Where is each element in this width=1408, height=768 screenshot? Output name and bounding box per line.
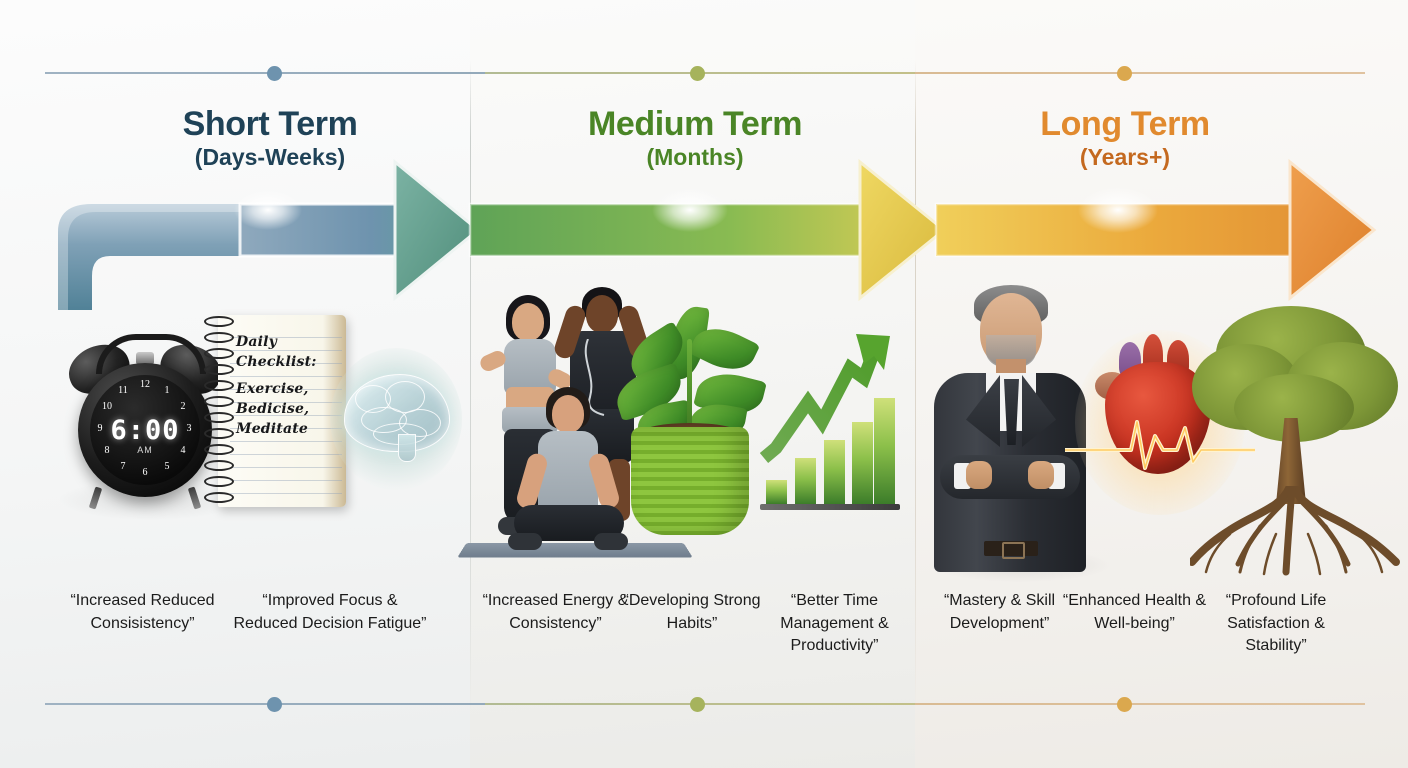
potted-plant-illustration	[615, 300, 765, 535]
plant-pot	[631, 427, 749, 535]
growth-bar-4	[852, 422, 873, 504]
timeline-rail-bottom	[45, 703, 1365, 705]
rail-segment-long-bottom	[915, 703, 1365, 705]
daily-checklist-notepad: Daily Checklist: Exercise, Bedicise, Med…	[218, 315, 346, 507]
infographic-canvas: Short Term (Days-Weeks) Medium Term (Mon…	[0, 0, 1408, 768]
timeline-marker-medium-bottom	[690, 697, 705, 712]
stage-subtitle-medium-term: (Months)	[545, 145, 845, 171]
brain-icon	[330, 348, 462, 490]
growth-bar-1	[766, 480, 787, 504]
growth-bar-2	[795, 458, 816, 504]
clock-digital-time: 6:00	[90, 415, 200, 446]
clock-numeral-6: 6	[138, 467, 152, 478]
businessman-hand-right	[1028, 461, 1054, 489]
stage-heading-long-term: Long Term (Years+)	[975, 105, 1275, 171]
growth-chart-baseline	[760, 504, 900, 510]
growth-bar-chart	[760, 330, 900, 510]
clock-numeral-7: 7	[116, 461, 130, 472]
tree-with-roots-illustration	[1190, 300, 1400, 575]
caption-long-term-1: “Mastery & Skill Development”	[922, 590, 1077, 635]
stage-subtitle-long-term: (Years+)	[975, 145, 1275, 171]
timeline-marker-medium-top	[690, 66, 705, 81]
caption-short-term-2: “Improved Focus & Reduced Decision Fatig…	[232, 590, 428, 635]
rail-segment-short-top	[45, 72, 485, 74]
stage-subtitle-short-term: (Days-Weeks)	[120, 145, 420, 171]
growth-bar-5	[874, 398, 895, 504]
column-divider-2	[915, 60, 916, 710]
meditator-shoe-right	[594, 533, 628, 550]
businessman-belt-buckle	[1002, 542, 1025, 559]
clock-numeral-1: 1	[160, 385, 174, 396]
businessman-hand-left	[966, 461, 992, 489]
caption-long-term-3: “Profound Life Satisfaction & Stability”	[1196, 590, 1356, 658]
plant-stem	[687, 339, 692, 435]
clock-numeral-11: 11	[116, 385, 130, 396]
tree-root-system	[1190, 486, 1400, 578]
meditator-tank-top	[538, 431, 598, 515]
timeline-marker-short-bottom	[267, 697, 282, 712]
alarm-clock-icon: 12 1 2 3 4 5 6 7 8 9 10 11 6:00 AM	[70, 330, 220, 495]
caption-long-term-2: “Enhanced Health & Well-being”	[1062, 590, 1207, 635]
notepad-line-2: Exercise, Bedicise, Meditate	[236, 380, 340, 440]
notepad-line-1: Daily Checklist:	[236, 333, 340, 373]
notepad-handwriting: Daily Checklist: Exercise, Bedicise, Med…	[236, 333, 340, 439]
brain-stem	[398, 434, 416, 462]
yoga-mat	[457, 543, 693, 558]
clock-numeral-5: 5	[160, 461, 174, 472]
clock-meridiem: AM	[90, 445, 200, 455]
caption-medium-term-1: “Increased Energy & Consistency”	[478, 590, 633, 635]
caption-medium-term-2: “Developing Strong Habits”	[612, 590, 772, 635]
rail-segment-long-top	[915, 72, 1365, 74]
meditator-shoe-left	[508, 533, 542, 550]
growth-bar-3	[824, 440, 845, 504]
meditator-head	[552, 395, 584, 433]
stretcher-head	[586, 295, 618, 333]
timeline-rail-top	[45, 72, 1365, 74]
caption-short-term-1: “Increased Reduced Consisistency”	[60, 590, 225, 635]
rail-segment-short-bottom	[45, 703, 485, 705]
stage-title-short-term: Short Term	[120, 105, 420, 143]
notepad-spiral-binding	[204, 312, 230, 510]
runner-head	[512, 303, 544, 341]
timeline-marker-long-top	[1117, 66, 1132, 81]
stage-heading-medium-term: Medium Term (Months)	[545, 105, 845, 171]
brain-body	[344, 374, 450, 452]
timeline-marker-long-bottom	[1117, 697, 1132, 712]
clock-numeral-2: 2	[176, 401, 190, 412]
clock-numeral-12: 12	[138, 379, 152, 390]
clock-body: 12 1 2 3 4 5 6 7 8 9 10 11 6:00 AM	[78, 363, 212, 497]
timeline-marker-short-top	[267, 66, 282, 81]
clock-face: 12 1 2 3 4 5 6 7 8 9 10 11 6:00 AM	[90, 375, 200, 485]
stage-title-long-term: Long Term	[975, 105, 1275, 143]
clock-numeral-10: 10	[100, 401, 114, 412]
stage-title-medium-term: Medium Term	[545, 105, 845, 143]
stage-heading-short-term: Short Term (Days-Weeks)	[120, 105, 420, 171]
caption-medium-term-3: “Better Time Management & Productivity”	[757, 590, 912, 658]
